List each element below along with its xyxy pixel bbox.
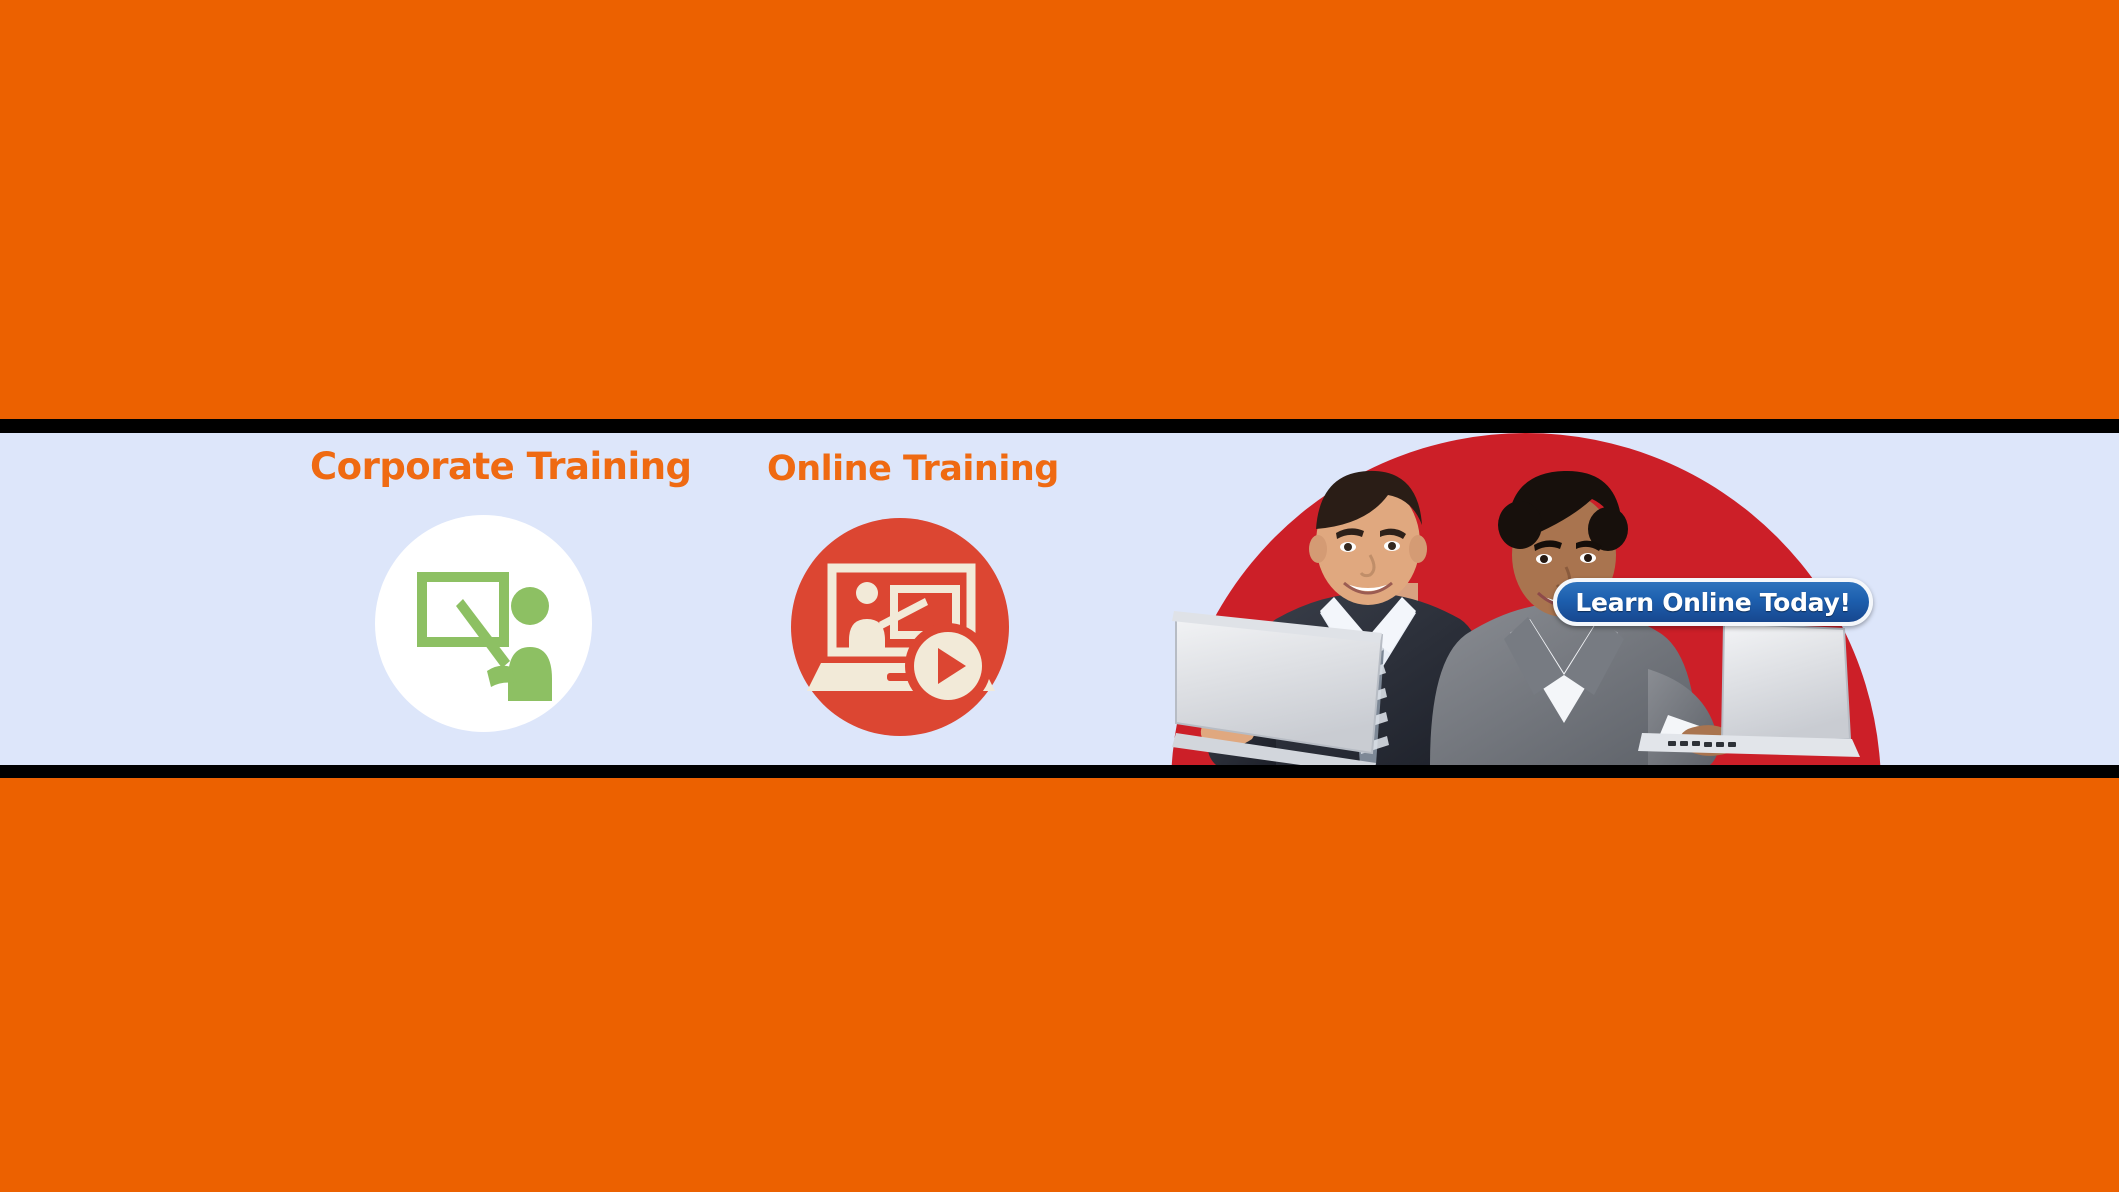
presenter-whiteboard-icon xyxy=(375,515,592,732)
page-canvas: Corporate Training Online Training xyxy=(0,0,2119,1192)
online-training-heading: Online Training xyxy=(767,452,1059,487)
banner-bottom-rule xyxy=(0,765,2119,778)
online-training-badge[interactable] xyxy=(791,518,1009,736)
learn-online-today-button[interactable]: Learn Online Today! xyxy=(1553,578,1873,626)
banner-top-rule xyxy=(0,419,2119,433)
corporate-training-badge[interactable] xyxy=(375,515,592,732)
cta-label: Learn Online Today! xyxy=(1575,588,1850,617)
corporate-training-heading: Corporate Training xyxy=(310,448,692,485)
laptop-elearning-play-icon xyxy=(791,518,1009,736)
